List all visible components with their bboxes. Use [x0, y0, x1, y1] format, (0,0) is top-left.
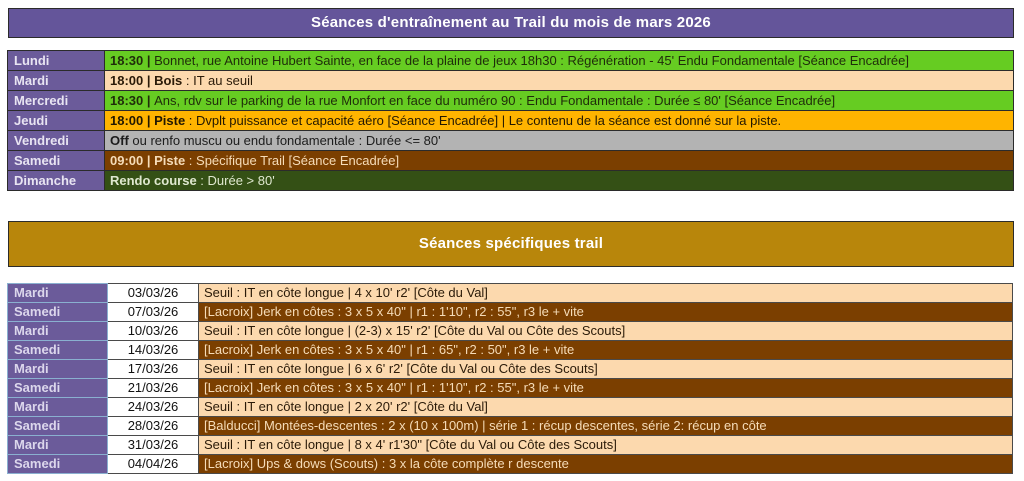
session-day-label: Mardi [8, 360, 108, 379]
session-date: 14/03/26 [108, 341, 199, 360]
weekly-session-description: 18:30 | Bonnet, rue Antoine Hubert Saint… [105, 51, 1014, 71]
table-row: Samedi14/03/26[Lacroix] Jerk en côtes : … [8, 341, 1013, 360]
table-row: Mardi10/03/26Seuil : IT en côte longue |… [8, 322, 1013, 341]
session-description: Seuil : IT en côte longue | 2 x 20' r2' … [199, 398, 1013, 417]
training-schedule-page: Séances d'entraînement au Trail du mois … [0, 0, 1024, 481]
session-description: [Balducci] Montées-descentes : 2 x (10 x… [199, 417, 1013, 436]
session-day-label: Samedi [8, 341, 108, 360]
session-lead: Off [110, 133, 129, 148]
session-detail: Ans, rdv sur le parking de la rue Monfor… [154, 93, 835, 108]
session-date: 31/03/26 [108, 436, 199, 455]
table-row: Mardi18:00 | Bois : IT au seuil [8, 71, 1014, 91]
weekly-day-label: Lundi [8, 51, 105, 71]
session-description: [Lacroix] Ups & dows (Scouts) : 3 x la c… [199, 455, 1013, 474]
session-lead: 18:00 | Bois [110, 73, 182, 88]
table-row: Samedi21/03/26[Lacroix] Jerk en côtes : … [8, 379, 1013, 398]
session-day-label: Mardi [8, 322, 108, 341]
table-row: Lundi18:30 | Bonnet, rue Antoine Hubert … [8, 51, 1014, 71]
weekly-session-description: 18:30 | Ans, rdv sur le parking de la ru… [105, 91, 1014, 111]
session-day-label: Mardi [8, 284, 108, 303]
session-lead: 18:00 | Piste [110, 113, 185, 128]
session-detail: : IT au seuil [182, 73, 253, 88]
table-row: Samedi28/03/26[Balducci] Montées-descent… [8, 417, 1013, 436]
session-date: 21/03/26 [108, 379, 199, 398]
session-day-label: Samedi [8, 379, 108, 398]
session-lead: 18:30 | [110, 93, 154, 108]
weekly-day-label: Samedi [8, 151, 105, 171]
session-day-label: Samedi [8, 303, 108, 322]
weekly-day-label: Vendredi [8, 131, 105, 151]
weekly-day-label: Mercredi [8, 91, 105, 111]
session-detail: ou renfo muscu ou endu fondamentale : Du… [129, 133, 441, 148]
specific-sessions-body: Mardi03/03/26Seuil : IT en côte longue |… [8, 284, 1013, 474]
session-date: 28/03/26 [108, 417, 199, 436]
weekly-schedule-table: Lundi18:30 | Bonnet, rue Antoine Hubert … [7, 50, 1014, 191]
session-lead: Rendo course [110, 173, 197, 188]
session-date: 04/04/26 [108, 455, 199, 474]
weekly-day-label: Mardi [8, 71, 105, 91]
month-title-banner: Séances d'entraînement au Trail du mois … [8, 8, 1014, 38]
weekly-session-description: 18:00 | Piste : Dvplt puissance et capac… [105, 111, 1014, 131]
session-detail: Bonnet, rue Antoine Hubert Sainte, en fa… [154, 53, 909, 68]
weekly-schedule-body: Lundi18:30 | Bonnet, rue Antoine Hubert … [8, 51, 1014, 191]
specific-sessions-title-banner: Séances spécifiques trail [8, 221, 1014, 267]
table-row: Samedi04/04/26[Lacroix] Ups & dows (Scou… [8, 455, 1013, 474]
weekly-session-description: Off ou renfo muscu ou endu fondamentale … [105, 131, 1014, 151]
session-description: [Lacroix] Jerk en côtes : 3 x 5 x 40" | … [199, 303, 1013, 322]
session-day-label: Mardi [8, 436, 108, 455]
session-description: Seuil : IT en côte longue | (2-3) x 15' … [199, 322, 1013, 341]
weekly-session-description: Rendo course : Durée > 80' [105, 171, 1014, 191]
weekly-session-description: 18:00 | Bois : IT au seuil [105, 71, 1014, 91]
table-row: Mercredi18:30 | Ans, rdv sur le parking … [8, 91, 1014, 111]
session-date: 17/03/26 [108, 360, 199, 379]
session-lead: 18:30 | [110, 53, 154, 68]
session-day-label: Mardi [8, 398, 108, 417]
session-description: [Lacroix] Jerk en côtes : 3 x 5 x 40" | … [199, 379, 1013, 398]
session-description: Seuil : IT en côte longue | 4 x 10' r2' … [199, 284, 1013, 303]
table-row: Mardi24/03/26Seuil : IT en côte longue |… [8, 398, 1013, 417]
session-day-label: Samedi [8, 417, 108, 436]
table-row: DimancheRendo course : Durée > 80' [8, 171, 1014, 191]
weekly-day-label: Jeudi [8, 111, 105, 131]
session-detail: : Durée > 80' [197, 173, 275, 188]
session-lead: 09:00 | Piste [110, 153, 185, 168]
session-description: [Lacroix] Jerk en côtes : 3 x 5 x 40" | … [199, 341, 1013, 360]
session-date: 07/03/26 [108, 303, 199, 322]
specific-sessions-table: Mardi03/03/26Seuil : IT en côte longue |… [7, 283, 1013, 474]
table-row: Mardi31/03/26Seuil : IT en côte longue |… [8, 436, 1013, 455]
session-description: Seuil : IT en côte longue | 8 x 4' r1'30… [199, 436, 1013, 455]
table-row: VendrediOff ou renfo muscu ou endu fonda… [8, 131, 1014, 151]
session-description: Seuil : IT en côte longue | 6 x 6' r2' [… [199, 360, 1013, 379]
table-row: Mardi17/03/26Seuil : IT en côte longue |… [8, 360, 1013, 379]
session-detail: : Spécifique Trail [Séance Encadrée] [185, 153, 399, 168]
table-row: Samedi09:00 | Piste : Spécifique Trail [… [8, 151, 1014, 171]
table-row: Jeudi18:00 | Piste : Dvplt puissance et … [8, 111, 1014, 131]
session-detail: : Dvplt puissance et capacité aéro [Séan… [185, 113, 781, 128]
session-date: 24/03/26 [108, 398, 199, 417]
session-date: 03/03/26 [108, 284, 199, 303]
session-date: 10/03/26 [108, 322, 199, 341]
session-day-label: Samedi [8, 455, 108, 474]
table-row: Mardi03/03/26Seuil : IT en côte longue |… [8, 284, 1013, 303]
weekly-day-label: Dimanche [8, 171, 105, 191]
table-row: Samedi07/03/26[Lacroix] Jerk en côtes : … [8, 303, 1013, 322]
weekly-session-description: 09:00 | Piste : Spécifique Trail [Séance… [105, 151, 1014, 171]
